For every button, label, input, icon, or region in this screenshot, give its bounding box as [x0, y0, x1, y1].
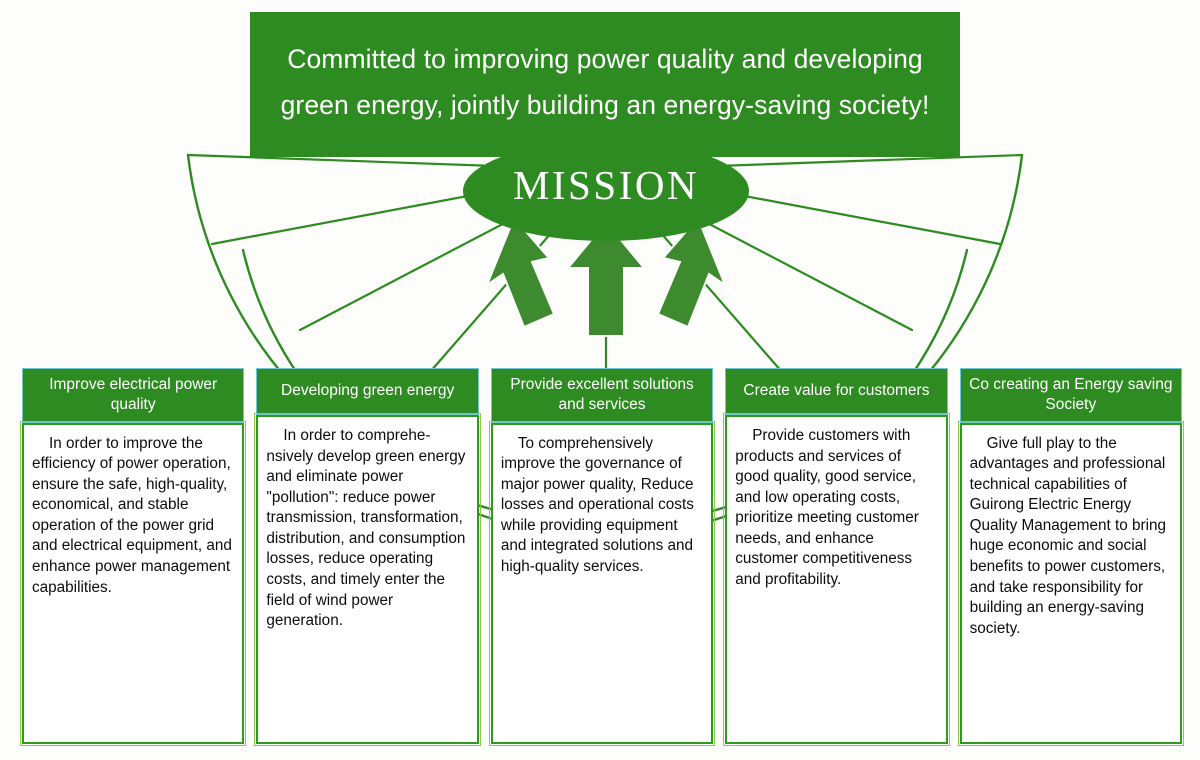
- pillar-card-body: Give full play to the advantages and pro…: [960, 423, 1182, 744]
- pillar-card-body: In order to improve the efficiency of po…: [22, 423, 244, 744]
- banner-line-2: green energy, jointly building an energy…: [281, 83, 930, 129]
- pillar-card: Provide excellent solutions and services…: [491, 368, 713, 744]
- pillar-card-header: Co creating an Energy saving Society: [960, 368, 1182, 423]
- mission-banner: Committed to improving power quality and…: [250, 12, 960, 157]
- pillar-card-header: Provide excellent solutions and services: [491, 368, 713, 423]
- pillar-card-header: Create value for customers: [725, 368, 947, 415]
- pillar-card: Create value for customers Provide custo…: [725, 368, 947, 744]
- pillar-card-body: To comprehensively improve the governanc…: [491, 423, 713, 744]
- mission-label: MISSION: [513, 165, 699, 206]
- pillar-card-header: Improve electrical power quality: [22, 368, 244, 423]
- mission-ellipse: MISSION: [463, 141, 749, 241]
- mission-diagram: Committed to improving power quality and…: [0, 0, 1200, 760]
- pillar-card-header: Developing green energy: [256, 368, 478, 415]
- pillar-card: Improve electrical power quality In orde…: [22, 368, 244, 744]
- pillar-card-body: Provide customers with products and serv…: [725, 415, 947, 744]
- pillar-card: Developing green energy In order to comp…: [256, 368, 478, 744]
- banner-line-1: Committed to improving power quality and…: [287, 37, 923, 83]
- pillar-card-body: In order to comprehe-nsively develop gre…: [256, 415, 478, 744]
- pillar-card: Co creating an Energy saving Society Giv…: [960, 368, 1182, 744]
- pillar-card-list: Improve electrical power quality In orde…: [22, 368, 1182, 744]
